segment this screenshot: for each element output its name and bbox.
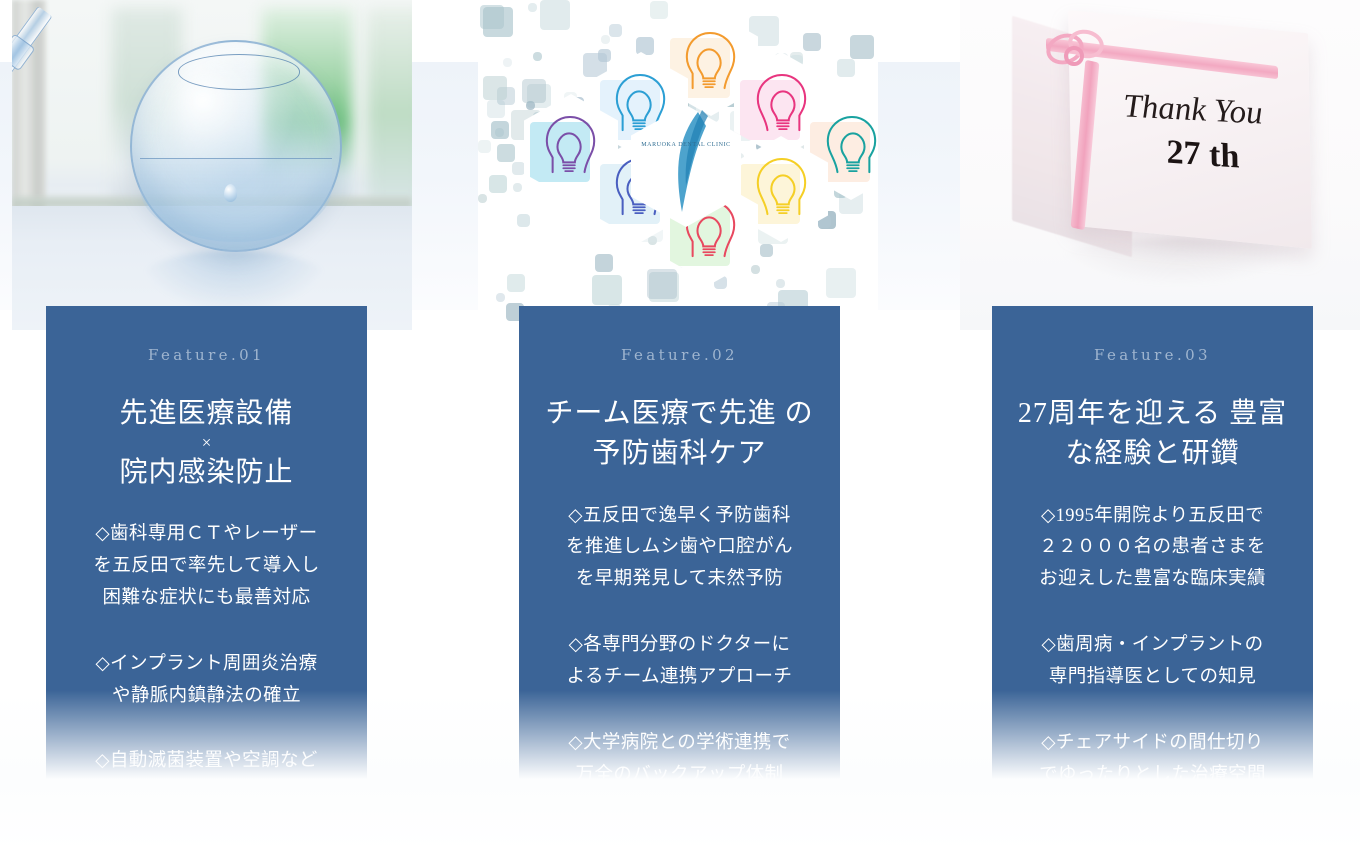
feature-blurb-line: ◇歯科専用ＣＴやレーザー [66, 519, 347, 551]
mosaic-square [595, 254, 613, 272]
feature-blurb-line: 困難な症状にも最善対応 [66, 583, 347, 615]
feature-title-line-1: チーム医療で先進 [545, 398, 776, 429]
mosaic-square [826, 268, 856, 298]
mosaic-square [496, 293, 505, 302]
feature-title: 27周年を迎える 豊富な経験と研鑽 [1012, 394, 1293, 475]
feature-blurb-line: ◇インプラント周囲炎治療 [66, 649, 347, 681]
feature-eyebrow: Feature.02 [539, 346, 820, 364]
feature-title-separator: × [66, 434, 347, 453]
feature-blurb-line: ◇五反田で逸早く予防歯科 [539, 501, 820, 533]
feature-eyebrow: Feature.03 [1012, 346, 1293, 364]
mosaic-square [513, 183, 522, 192]
mosaic-square [503, 58, 512, 67]
feature-blurb-line: 専門指導医としての知見 [1012, 662, 1293, 694]
mosaic-square [491, 121, 509, 139]
feature-title-line-1: 先進医療設備 [119, 398, 293, 429]
mosaic-square [636, 37, 654, 55]
mosaic-square [483, 76, 507, 100]
mosaic-square [528, 3, 537, 12]
feature-eyebrow: Feature.01 [66, 346, 347, 364]
mosaic-square [478, 194, 487, 203]
feature-title-line-2: 院内感染防止 [119, 457, 293, 488]
mosaic-square [540, 0, 570, 30]
feature-blurb-line: を五反田で率先して導入し [66, 551, 347, 583]
thank-you-card-photo: Thank You 27 th [960, 0, 1360, 330]
clinic-swoosh-icon [668, 108, 710, 220]
hero-image-3: Thank You 27 th [960, 0, 1360, 330]
feature-blurb-line: お迎えした豊富な臨床実績 [1012, 564, 1293, 596]
mosaic-square [592, 275, 622, 305]
mosaic-square [483, 7, 513, 37]
mosaic-square [517, 214, 530, 227]
mosaic-square [776, 279, 785, 288]
mosaic-square [533, 52, 542, 61]
feature-blurb-line: を推進しムシ歯や口腔がん [539, 532, 820, 564]
mosaic-square [526, 101, 535, 110]
feature-blurb: ◇1995年開院より五反田で２２０００名の患者さまをお迎えした豊富な臨床実績 [1012, 501, 1293, 596]
lab-photo [12, 0, 412, 330]
page-stage: MARUOKA DENTAL CLINIC Thank You 27 th [0, 0, 1360, 852]
water-drop-icon [224, 184, 237, 202]
feature-blurb: ◇歯周病・インプラントの専門指導医としての知見 [1012, 630, 1293, 694]
feature-blurb-line: を早期発見して未然予防 [539, 564, 820, 596]
mosaic-square [803, 33, 821, 51]
feature-title: 先進医療設備 × 院内感染防止 [66, 394, 347, 493]
ribbon-bow-icon [1046, 28, 1104, 88]
glass-sphere-icon [130, 40, 342, 252]
hero-image-1 [12, 0, 412, 330]
mosaic-square [751, 265, 760, 274]
feature-title-line-1: 27周年を迎える [1018, 398, 1221, 429]
mosaic-square [601, 35, 610, 44]
feature-blurb-line: ◇1995年開院より五反田で [1012, 501, 1293, 533]
mosaic-square [837, 59, 855, 77]
floor-gradient [0, 690, 1360, 852]
mosaic-square [650, 1, 668, 19]
mosaic-square [489, 175, 507, 193]
mosaic-square [512, 162, 525, 175]
feature-blurb-line: ◇各専門分野のドクターに [539, 630, 820, 662]
feature-title: チーム医療で先進 の予防歯科ケア [539, 394, 820, 475]
mosaic-square [647, 269, 677, 299]
feature-blurb-line: ２２０００名の患者さまを [1012, 532, 1293, 564]
mosaic-square [850, 35, 874, 59]
feature-blurb-line: ◇歯周病・インプラントの [1012, 630, 1293, 662]
mosaic-square [598, 49, 611, 62]
feature-blurb-line: よるチーム連携アプローチ [539, 662, 820, 694]
mosaic-square [609, 24, 622, 37]
mosaic-square [522, 79, 546, 103]
mosaic-square [478, 140, 491, 153]
mosaic-square [760, 244, 773, 257]
mosaic-square [497, 144, 515, 162]
clinic-logo-text: MARUOKA DENTAL CLINIC [631, 142, 741, 148]
feature-blurb: ◇各専門分野のドクターによるチーム連携アプローチ [539, 630, 820, 694]
mosaic-square [507, 274, 525, 292]
feature-blurb: ◇歯科専用ＣＴやレーザーを五反田で率先して導入し困難な症状にも最善対応 [66, 519, 347, 614]
feature-blurb: ◇五反田で逸早く予防歯科を推進しムシ歯や口腔がんを早期発見して未然予防 [539, 501, 820, 596]
hexagon-network-graphic: MARUOKA DENTAL CLINIC [478, 0, 878, 330]
hero-image-2: MARUOKA DENTAL CLINIC [478, 0, 878, 330]
